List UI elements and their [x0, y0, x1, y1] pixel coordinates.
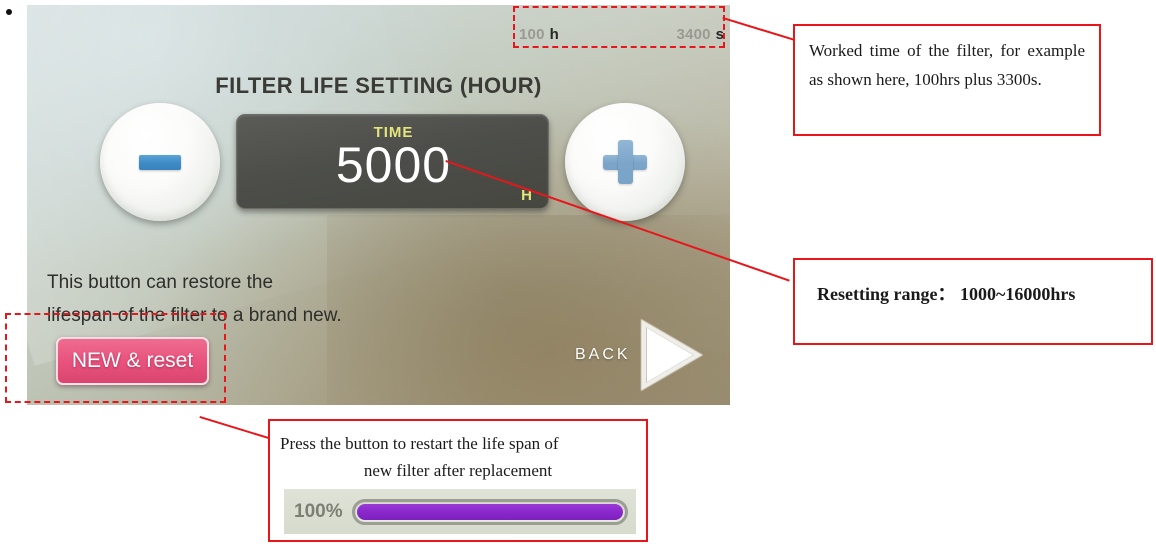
- progress-fill: [357, 504, 623, 520]
- callout-press-button-text-line2: new filter after replacement: [280, 457, 636, 485]
- callout-worked-time: Worked time of the filter, for example a…: [793, 24, 1101, 136]
- play-triangle-icon: [641, 319, 709, 391]
- filter-life-progress: 100%: [284, 489, 636, 534]
- screenshot-root: 100 h 3400 s FILTER LIFE SETTING (HOUR) …: [0, 0, 1156, 544]
- time-display-panel[interactable]: TIME 5000 H: [236, 114, 549, 209]
- callout-resetting-range: Resetting range： 1000~16000hrs: [793, 258, 1153, 345]
- leader-line-press-button: [199, 416, 270, 440]
- callout-resetting-range-text: Resetting range： 1000~16000hrs: [817, 280, 1151, 306]
- increment-button[interactable]: [565, 103, 685, 221]
- bullet-marker: [6, 9, 12, 15]
- progress-percent-label: 100%: [294, 501, 343, 523]
- back-button[interactable]: BACK: [575, 317, 730, 393]
- highlight-box-worked-time: [513, 6, 725, 48]
- callout-press-button: Press the button to restart the life spa…: [268, 419, 648, 542]
- highlight-box-reset-button: [5, 313, 226, 403]
- minus-icon: [139, 155, 181, 170]
- back-button-label: BACK: [575, 346, 631, 364]
- progress-track: [352, 499, 628, 525]
- callout-press-button-text-line1: Press the button to restart the life spa…: [280, 430, 636, 458]
- time-display-value: 5000: [237, 139, 549, 192]
- screen-title: FILTER LIFE SETTING (HOUR): [27, 73, 730, 99]
- callout-worked-time-text: Worked time of the filter, for example a…: [809, 36, 1085, 94]
- plus-icon: [603, 140, 647, 184]
- decrement-button[interactable]: [100, 103, 220, 221]
